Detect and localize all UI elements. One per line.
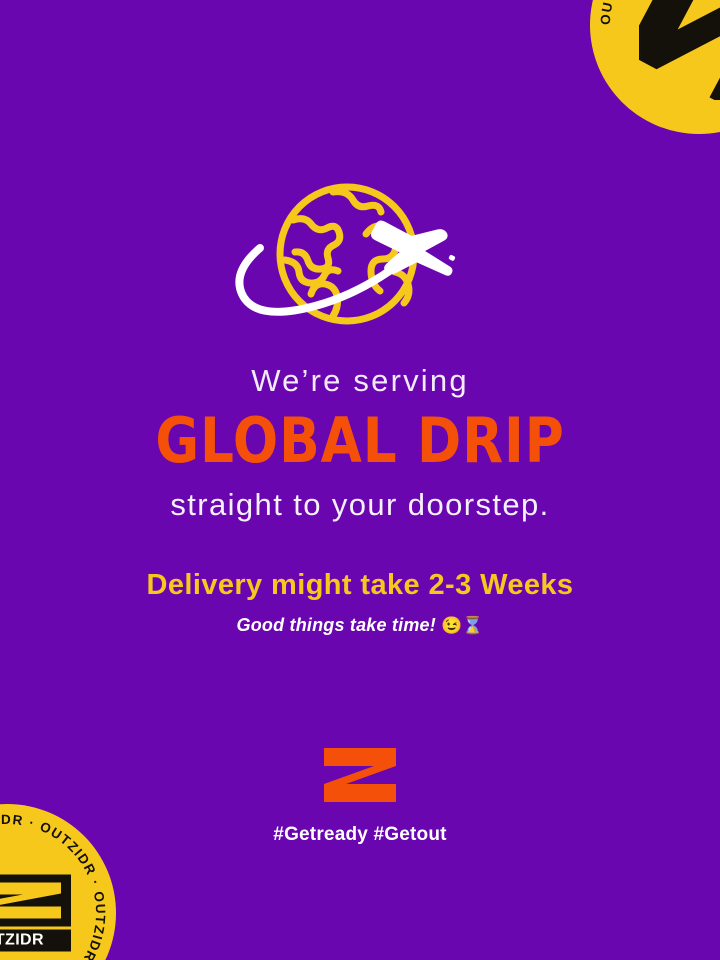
delivery-notice-text: Delivery might take 2-3 Weeks — [0, 570, 720, 602]
eyebrow-text: We’re serving — [0, 364, 720, 398]
badge-core-mark — [0, 875, 71, 927]
headline-text: GLOBAL DRIP — [50, 410, 669, 472]
wink-hourglass-emoji: 😉⌛ — [441, 616, 483, 635]
badge-z-mark-bottom-left — [0, 882, 63, 920]
reassurance-text: Good things take time! — [237, 615, 436, 635]
badge-core-bottom-left: OUTZIDR — [0, 875, 71, 952]
subhead-text: straight to your doorstep. — [0, 488, 720, 522]
hashtags-text: #Getready #Getout — [0, 824, 720, 846]
z-monogram-logo — [320, 746, 400, 804]
badge-core-word: OUTZIDR — [0, 930, 71, 952]
reassurance-line: Good things take time! 😉⌛ — [0, 616, 720, 636]
footer-block: #Getready #Getout — [0, 746, 720, 846]
copy-block: We’re serving GLOBAL DRIP straight to yo… — [0, 364, 720, 636]
promo-poster: OUTZIDR · OUTZIDR · OUTZIDR · OUTZIDR · — [0, 0, 720, 960]
brand-badge-top-right: OUTZIDR · OUTZIDR · OUTZIDR · OUTZIDR · — [590, 0, 720, 134]
globe-airplane-icon — [235, 176, 485, 346]
badge-z-mark-top-right — [639, 0, 720, 100]
